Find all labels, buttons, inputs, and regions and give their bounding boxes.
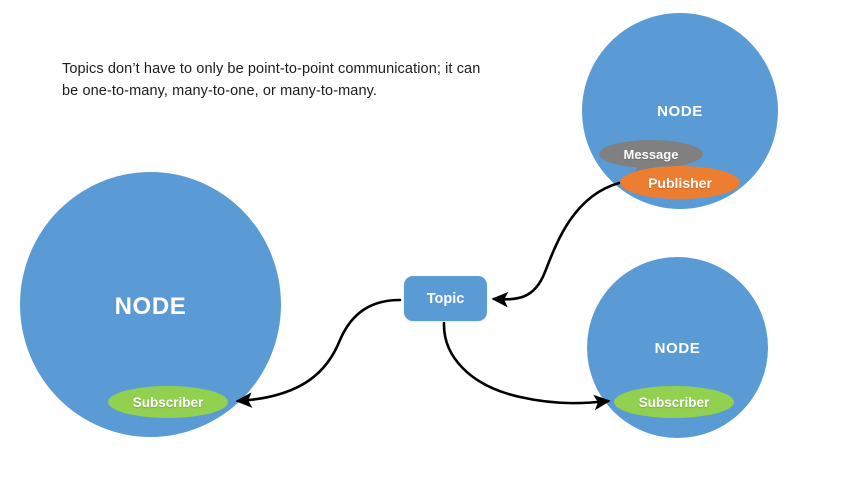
node-label-bottom-right: NODE — [587, 340, 768, 357]
subscriber-pill-bottom-right[interactable]: Subscriber — [614, 386, 734, 418]
node-label-top-right: NODE — [582, 103, 778, 120]
edge-publisher-to-topic — [494, 183, 619, 299]
subscriber-pill-left[interactable]: Subscriber — [108, 386, 228, 418]
message-pill[interactable]: Message — [599, 140, 703, 168]
edge-topic-to-bottom-right-subscriber — [444, 323, 608, 403]
topic-box[interactable]: Topic — [404, 276, 487, 321]
caption-text: Topics don’t have to only be point-to-po… — [62, 58, 482, 103]
publisher-pill[interactable]: Publisher — [620, 166, 740, 199]
node-label-left: NODE — [20, 293, 281, 321]
diagram-canvas: Topics don’t have to only be point-to-po… — [0, 0, 854, 480]
